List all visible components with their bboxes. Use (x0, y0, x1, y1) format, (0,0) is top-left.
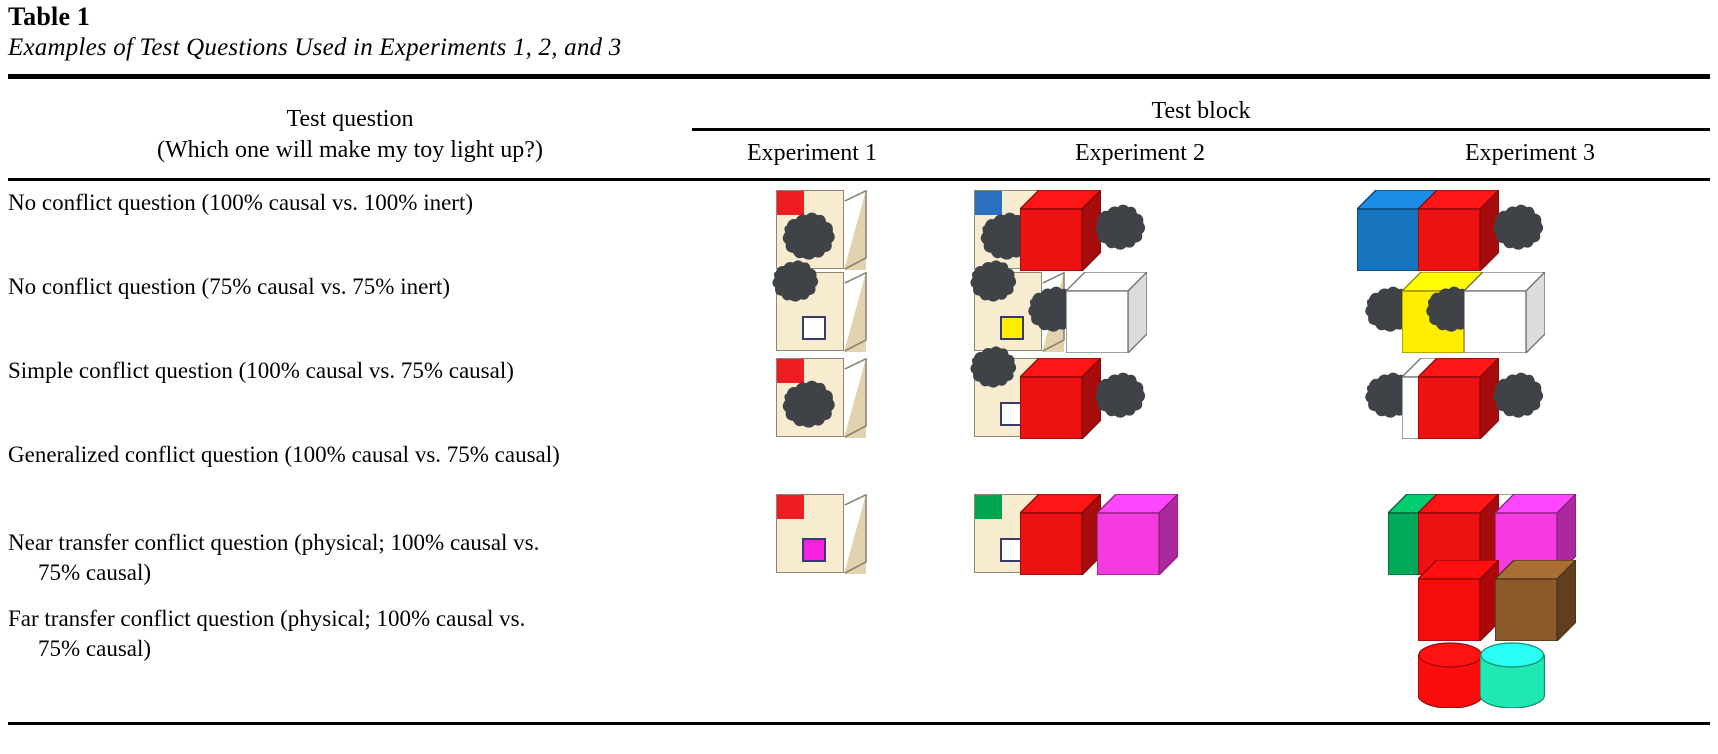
occluder-cloud-icon (1085, 199, 1148, 268)
exp2-left-stimulus-pair (1020, 358, 1147, 439)
occluder-slot (1087, 195, 1147, 271)
box-inner-square (802, 538, 826, 562)
occluder-cloud-icon (770, 378, 840, 444)
stimulus-cell-exp3 (1418, 560, 1718, 641)
question-column-header-line1: Test question (8, 104, 692, 135)
occluder-slot (1087, 363, 1147, 439)
exp3-left-item0-cube (1418, 560, 1499, 641)
column-header-experiment-3: Experiment 3 (1360, 140, 1700, 167)
exp3-left-item0-cylinder (1418, 642, 1482, 708)
row-label-text: Far transfer conflict question (physical… (8, 606, 525, 631)
stimulus-cell-exp3 (1418, 642, 1718, 708)
occluder-cloud-icon (760, 258, 824, 316)
row-label: Far transfer conflict question (physical… (8, 604, 688, 664)
exp2-left-stimulus-pair (1020, 190, 1147, 271)
stimulus-cell-exp2 (1020, 272, 1483, 353)
row-label: Simple conflict question (100% causal vs… (8, 356, 688, 386)
rule-spanner (692, 128, 1710, 131)
stimulus-cell-exp3 (1418, 190, 1718, 271)
exp3-left-stimulus-pair (1418, 272, 1545, 353)
rule-top (8, 74, 1710, 79)
row-label: Near transfer conflict question (physica… (8, 528, 688, 588)
row-label: No conflict question (75% causal vs. 75%… (8, 272, 688, 302)
box-color-swatch (777, 495, 804, 519)
row-label-continuation: 75% causal) (8, 558, 688, 588)
row-label-text: No conflict question (100% causal vs. 10… (8, 190, 473, 215)
exp3-left-stimulus-pair (1418, 560, 1576, 641)
occluder-cloud-icon (1483, 367, 1546, 436)
occluder-cloud-icon (1483, 199, 1546, 268)
exp3-left-stimulus-pair (1418, 642, 1545, 708)
rule-header-bottom (8, 178, 1710, 181)
exp3-left-item1-cube (1495, 560, 1576, 641)
occluder-cloud-icon (1085, 367, 1148, 436)
row-label-text: Simple conflict question (100% causal vs… (8, 358, 514, 383)
occluder-slot (1485, 195, 1545, 271)
box-color-swatch (975, 495, 1002, 519)
row-label-continuation: 75% causal) (8, 634, 688, 664)
exp3-left-stimulus-pair (1418, 190, 1545, 271)
column-header-experiment-1: Experiment 1 (692, 140, 932, 167)
column-header-experiment-2: Experiment 2 (970, 140, 1310, 167)
exp1-left-open-box (776, 358, 868, 438)
stimulus-cell-exp3 (1418, 358, 1718, 439)
box-inner-square (802, 316, 826, 340)
question-column-header-line2: (Which one will make my toy light up?) (8, 135, 692, 166)
question-column-header: Test question (Which one will make my to… (8, 104, 692, 165)
exp3-left-item1-cylinder (1480, 642, 1544, 708)
exp1-left-open-box (776, 494, 868, 574)
stimulus-cell-exp2 (1020, 190, 1483, 271)
stimulus-cell-exp2 (1020, 358, 1483, 439)
exp2-left-item1-cube (1066, 272, 1147, 353)
table-title: Examples of Test Questions Used in Exper… (8, 34, 621, 62)
column-group-header: Test block (692, 98, 1710, 125)
occluder-slot (1485, 363, 1545, 439)
occluder-cloud-icon (958, 344, 1022, 402)
rule-bottom (8, 722, 1710, 725)
exp3-left-stimulus-pair (1418, 358, 1545, 439)
stimulus-cell-exp3 (1418, 272, 1718, 353)
exp2-left-stimulus-pair (1020, 272, 1147, 353)
exp1-left-open-box (776, 272, 868, 352)
table-figure: Table 1 Examples of Test Questions Used … (0, 0, 1718, 754)
row-label-text: No conflict question (75% causal vs. 75%… (8, 274, 450, 299)
row-label: No conflict question (100% causal vs. 10… (8, 188, 688, 218)
table-number: Table 1 (8, 2, 90, 32)
occluder-cloud-icon (958, 258, 1022, 316)
row-label-text: Generalized conflict question (100% caus… (8, 442, 560, 467)
exp3-left-item1-cube (1464, 272, 1545, 353)
exp2-left-stimulus-pair (1020, 494, 1178, 575)
exp2-left-item1-cube (1097, 494, 1178, 575)
exp2-left-item0-cube (1020, 494, 1101, 575)
row-label: Generalized conflict question (100% caus… (8, 440, 688, 470)
row-label-text: Near transfer conflict question (physica… (8, 530, 539, 555)
